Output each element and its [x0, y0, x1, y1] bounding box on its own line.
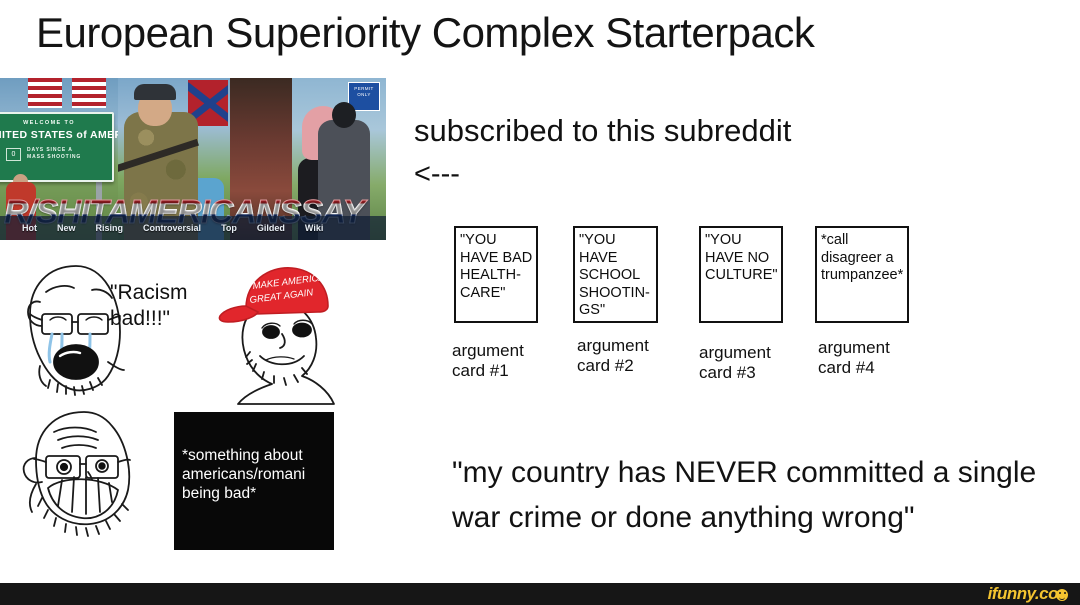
sign-counter-label: DAYS SINCE A MASS SHOOTING: [27, 147, 81, 161]
argument-card-4-box: *call disagreer a trumpanzee*: [815, 226, 909, 323]
pointing-arrow-annotation: <---: [414, 158, 460, 190]
ifunny-watermark: ifunny.co: [988, 584, 1068, 604]
smug-soyjak-wojak: [14, 406, 164, 546]
argument-card-4-label: argument card #4: [818, 338, 890, 378]
sign-welcome-line: WELCOME TO: [0, 120, 112, 126]
argument-card-3-box: "YOU HAVE NO CULTURE": [699, 226, 783, 323]
subreddit-nav-bar[interactable]: Hot New Rising Controversial Top Gilded …: [0, 216, 386, 240]
sign-counter-row: 0 DAYS SINCE A MASS SHOOTING: [0, 147, 112, 161]
nav-item-controversial[interactable]: Controversial: [143, 223, 201, 233]
sign-counter-value: 0: [6, 148, 21, 161]
militia-cap: [134, 84, 176, 100]
armed-man-head: [332, 102, 356, 128]
american-flag-decor: [28, 78, 62, 108]
nav-item-new[interactable]: New: [57, 223, 76, 233]
racism-bad-quote: "Racism bad!!!": [110, 280, 187, 332]
black-caption-box: *something about americans/romani being …: [174, 412, 334, 550]
welcome-to-usa-sign: WELCOME TO UNITED STATES of AMERICA 0 DA…: [0, 112, 114, 182]
ifunny-watermark-text: ifunny.co: [988, 584, 1058, 604]
argument-card-1-box: "YOU HAVE BAD HEALTH-CARE": [454, 226, 538, 323]
reddit-banner-image: WELCOME TO UNITED STATES of AMERICA 0 DA…: [0, 78, 386, 240]
american-flag-decor: [72, 78, 106, 108]
nav-item-rising[interactable]: Rising: [96, 223, 124, 233]
war-crime-quote: "my country has NEVER committed a single…: [452, 450, 1042, 540]
argument-card-1-label: argument card #1: [452, 341, 524, 381]
nav-item-gilded[interactable]: Gilded: [257, 223, 285, 233]
nav-item-wiki[interactable]: Wiki: [305, 223, 323, 233]
maga-brainlet-wojak: MAKE AMERICA GREAT AGAIN: [216, 256, 356, 406]
argument-card-3-label: argument card #3: [699, 343, 771, 383]
argument-card-2-box: "YOU HAVE SCHOOL SHOOTIN-GS": [573, 226, 658, 323]
subscribed-annotation: subscribed to this subreddit: [414, 112, 791, 150]
argument-card-2-label: argument card #2: [577, 336, 649, 376]
nav-item-top[interactable]: Top: [221, 223, 237, 233]
sign-country-line: UNITED STATES of AMERICA: [0, 129, 112, 141]
nav-item-hot[interactable]: Hot: [22, 223, 37, 233]
meme-canvas: European Superiority Complex Starterpack…: [0, 0, 1080, 605]
watermark-bar: ifunny.co: [0, 583, 1080, 605]
meme-title: European Superiority Complex Starterpack: [36, 8, 1046, 58]
smiley-icon: [1056, 589, 1068, 601]
